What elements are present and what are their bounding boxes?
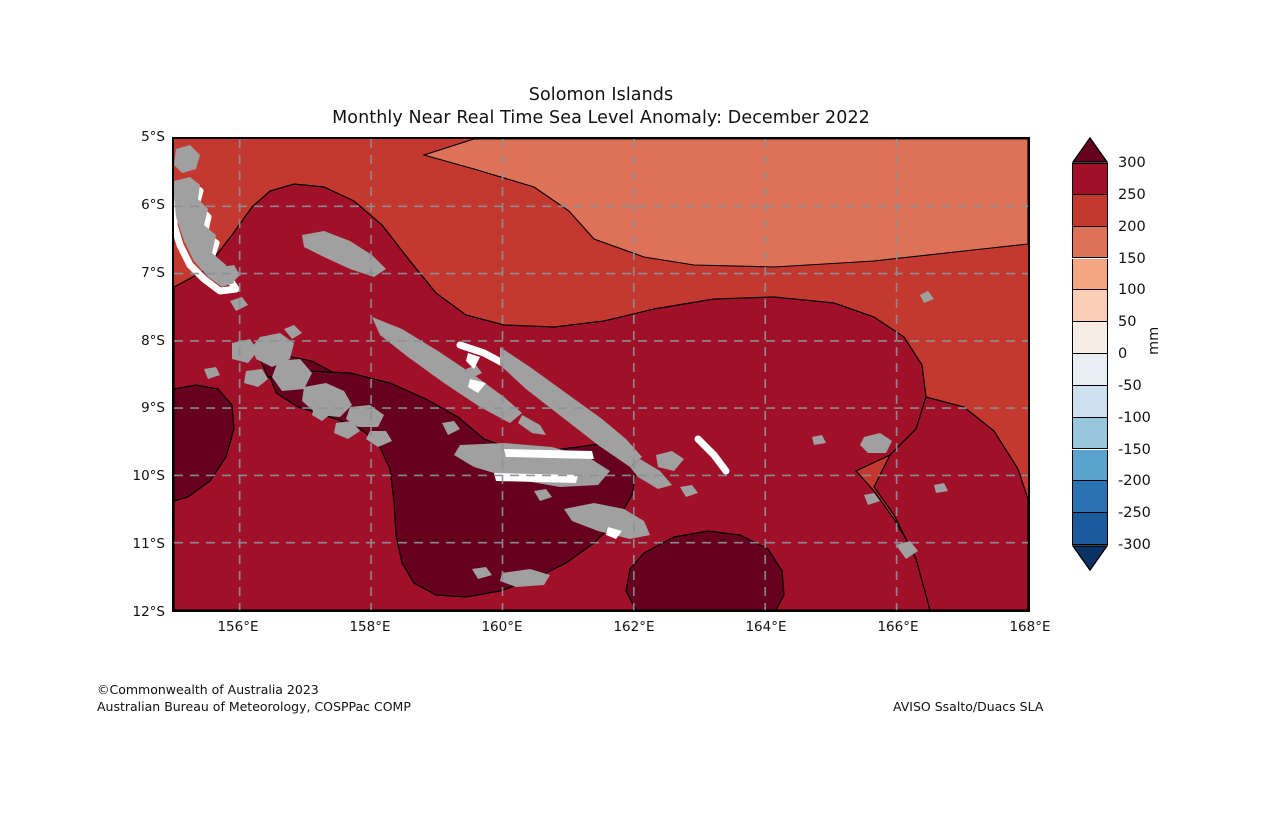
footer-credits: ©Commonwealth of Australia 2023 Australi… xyxy=(97,682,411,715)
colorbar-swatch xyxy=(1072,163,1108,195)
colorbar-tick-label: 50 xyxy=(1118,314,1136,330)
lon-tick-label: 166°E xyxy=(877,619,918,635)
colorbar-swatch xyxy=(1072,227,1108,259)
colorbar-tick-label: 250 xyxy=(1118,187,1146,203)
colorbar-tick-label: 0 xyxy=(1118,346,1127,362)
colorbar-tick-label: 300 xyxy=(1118,155,1146,171)
colorbar-tick-label: -250 xyxy=(1118,505,1151,521)
lon-tick-label: 168°E xyxy=(1009,619,1050,635)
longitude-axis: 156°E158°E160°E162°E164°E166°E168°E xyxy=(172,619,1030,641)
colorbar-tick-label: 150 xyxy=(1118,251,1146,267)
colorbar-unit-label: mm xyxy=(1146,327,1162,355)
lat-tick-label: 6°S xyxy=(141,197,165,213)
colorbar-swatch xyxy=(1072,418,1108,450)
title-line-2: Monthly Near Real Time Sea Level Anomaly… xyxy=(172,107,1030,130)
sea-level-anomaly-map-page: Solomon Islands Monthly Near Real Time S… xyxy=(0,0,1262,816)
colorbar-tick-label: 200 xyxy=(1118,219,1146,235)
latitude-axis: 5°S6°S7°S8°S9°S10°S11°S12°S xyxy=(60,137,165,612)
colorbar-swatch xyxy=(1072,513,1108,545)
colorbar-swatch xyxy=(1072,354,1108,386)
colorbar-tick-label: -150 xyxy=(1118,442,1151,458)
lon-tick-label: 158°E xyxy=(349,619,390,635)
lat-tick-label: 10°S xyxy=(133,468,166,484)
colorbar-swatch xyxy=(1072,481,1108,513)
lat-tick-label: 8°S xyxy=(141,333,165,349)
colorbar-swatch xyxy=(1072,386,1108,418)
lon-tick-label: 160°E xyxy=(481,619,522,635)
lat-tick-label: 11°S xyxy=(133,536,166,552)
colorbar-tick-label: 100 xyxy=(1118,282,1146,298)
lat-tick-label: 12°S xyxy=(133,604,166,620)
title-line-1: Solomon Islands xyxy=(172,84,1030,107)
colorbar-swatch xyxy=(1072,259,1108,291)
page-title: Solomon Islands Monthly Near Real Time S… xyxy=(172,84,1030,130)
map-canvas xyxy=(174,139,1028,610)
colorbar-tick-label: -100 xyxy=(1118,410,1151,426)
colorbar-swatch xyxy=(1072,195,1108,227)
footer-agency: Australian Bureau of Meteorology, COSPPa… xyxy=(97,699,411,716)
footer-data-source: AVISO Ssalto/Duacs SLA xyxy=(893,699,1043,714)
colorbar-swatch xyxy=(1072,290,1108,322)
lon-tick-label: 162°E xyxy=(613,619,654,635)
lat-tick-label: 7°S xyxy=(141,265,165,281)
colorbar-swatch xyxy=(1072,450,1108,482)
lon-tick-label: 156°E xyxy=(217,619,258,635)
colorbar-extend-min xyxy=(1072,545,1108,571)
colorbar-swatch xyxy=(1072,322,1108,354)
colorbar-tick-label: -200 xyxy=(1118,473,1151,489)
lon-tick-label: 164°E xyxy=(745,619,786,635)
map-plot-area xyxy=(172,137,1030,612)
lat-tick-label: 5°S xyxy=(141,129,165,145)
lat-tick-label: 9°S xyxy=(141,400,165,416)
colorbar-extend-max xyxy=(1072,137,1108,163)
colorbar: 300250200150100500-50-100-150-200-250-30… xyxy=(1072,137,1108,571)
footer-copyright: ©Commonwealth of Australia 2023 xyxy=(97,682,411,699)
colorbar-tick-label: -50 xyxy=(1118,378,1142,394)
colorbar-tick-label: -300 xyxy=(1118,537,1151,553)
